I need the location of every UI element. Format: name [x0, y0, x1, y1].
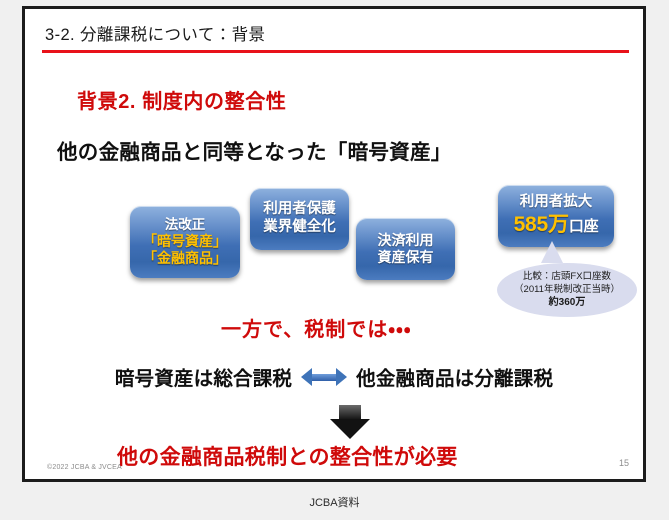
account-count-number: 585万	[514, 213, 569, 236]
box-line: 利用者拡大	[520, 194, 593, 212]
blue-box-payment-use: 決済利用 資産保有	[356, 218, 455, 280]
box-line: 法改正	[165, 217, 206, 233]
box-line-highlight: 「暗号資産」	[143, 233, 227, 250]
box-line-account-count: 585万口座	[514, 212, 599, 238]
arrow-shaft	[310, 374, 338, 381]
callout-bubble-fx-comparison: 比較：店頭FX口座数 （2011年税制改正当時） 約360万	[497, 263, 637, 317]
box-line: 決済利用	[378, 232, 434, 249]
title-underline-rule	[42, 50, 629, 53]
account-count-unit: 口座	[569, 218, 599, 235]
callout-line-1: 比較：店頭FX口座数	[523, 271, 611, 283]
comparison-row: 暗号資産は総合課税 他金融商品は分離課税	[25, 362, 643, 391]
page-number: 15	[619, 458, 629, 468]
box-line: 業界健全化	[263, 219, 336, 237]
box-line: 資産保有	[378, 249, 434, 266]
blue-box-user-protection: 利用者保護 業界健全化	[250, 188, 349, 250]
section-subheading: 他の金融商品と同等となった「暗号資産」	[57, 135, 452, 165]
blue-box-law-revision: 法改正 「暗号資産」 「金融商品」	[130, 206, 240, 278]
callout-line-2: （2011年税制改正当時）	[514, 284, 620, 296]
box-line-highlight: 「金融商品」	[143, 250, 227, 267]
transition-text-red: 一方で、税制では・・・	[221, 313, 412, 342]
arrow-tip-right	[336, 368, 347, 386]
arrow-head	[330, 419, 370, 439]
slide-frame: 3-2. 分離課税について：背景 背景2. 制度内の整合性 他の金融商品と同等と…	[22, 6, 646, 482]
callout-pointer-icon	[541, 241, 563, 263]
arrow-shaft	[339, 405, 361, 420]
comparison-right-text: 他金融商品は分離課税	[356, 362, 553, 391]
down-arrow-icon	[330, 405, 370, 439]
section-heading-red: 背景2. 制度内の整合性	[77, 85, 286, 114]
conclusion-text: 他の金融商品税制との整合性が必要	[117, 441, 458, 471]
blue-box-user-growth: 利用者拡大 585万口座	[498, 185, 614, 247]
slide-title: 3-2. 分離課税について：背景	[45, 21, 265, 45]
callout-line-3: 約360万	[549, 296, 586, 309]
copyright-notice: ©2022 JCBA & JVCEA	[47, 464, 122, 471]
arrow-tip-left	[301, 368, 312, 386]
double-headed-arrow-icon	[301, 368, 347, 386]
comparison-left-text: 暗号資産は総合課税	[115, 362, 292, 391]
box-line: 利用者保護	[263, 201, 336, 219]
source-caption: JCBA資料	[0, 494, 669, 510]
page-background: 3-2. 分離課税について：背景 背景2. 制度内の整合性 他の金融商品と同等と…	[0, 0, 669, 520]
